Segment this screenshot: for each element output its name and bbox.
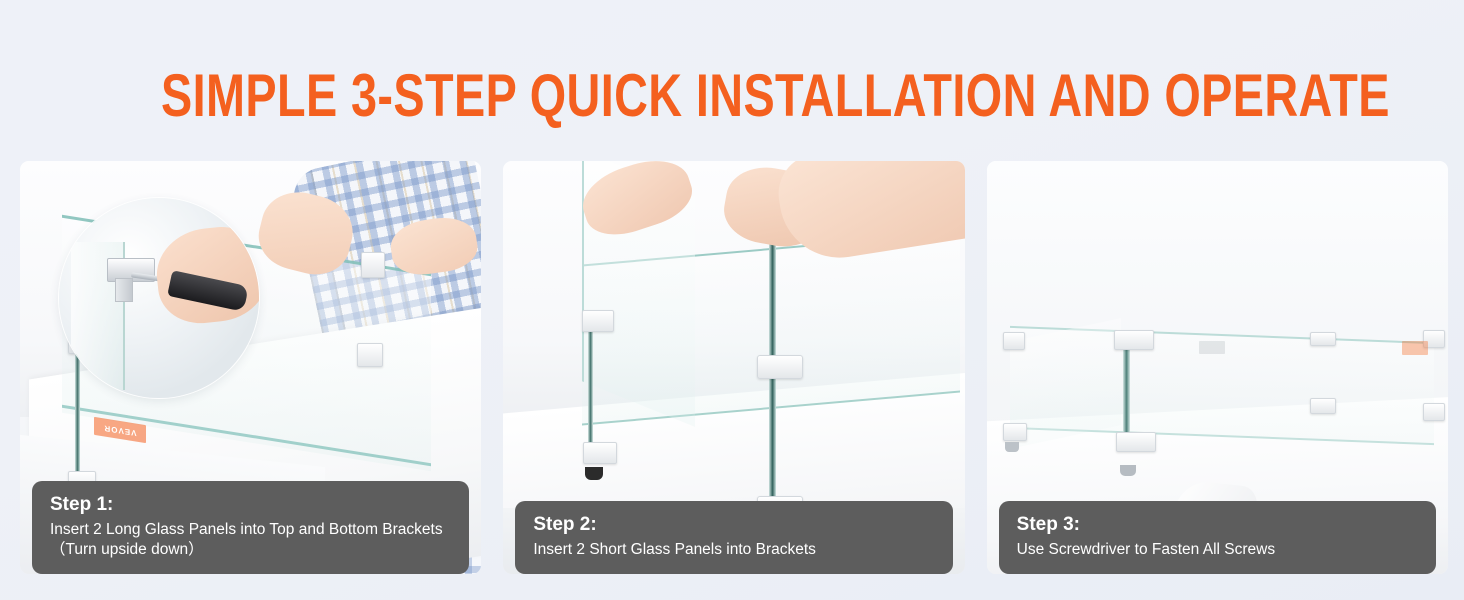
bracket-corner-top bbox=[1114, 330, 1154, 350]
step-card-2[interactable]: Step 2: Insert 2 Short Glass Panels into… bbox=[503, 161, 964, 574]
bracket-top-right bbox=[361, 252, 385, 278]
step-3-label: Step 3: bbox=[1017, 513, 1418, 537]
step-card-3[interactable]: Step 3: Use Screwdriver to Fasten All Sc… bbox=[987, 161, 1448, 574]
step-2-caption: Step 2: Insert 2 Short Glass Panels into… bbox=[515, 501, 952, 574]
magnifier-inset bbox=[59, 198, 259, 398]
bracket-upper-center bbox=[757, 355, 803, 379]
step-3-description: Use Screwdriver to Fasten All Screws bbox=[1017, 540, 1418, 560]
steps-gallery: VEVOR Step 1: Insert 2 Long Glass Panels… bbox=[20, 161, 1448, 574]
bracket-mid-right-top bbox=[1310, 332, 1336, 346]
step-card-1[interactable]: VEVOR Step 1: Insert 2 Long Glass Panels… bbox=[20, 161, 481, 574]
promo-banner: SIMPLE 3-STEP QUICK INSTALLATION AND OPE… bbox=[0, 0, 1464, 600]
bracket-mid-right bbox=[357, 343, 383, 367]
bracket-mid-right-bottom bbox=[1310, 398, 1336, 414]
rubber-foot-corner bbox=[1120, 465, 1136, 476]
glass-corner-post-left bbox=[588, 318, 593, 458]
center-label-sticker bbox=[1199, 341, 1225, 354]
bracket-far-left-top bbox=[1003, 332, 1025, 350]
page-title: SIMPLE 3-STEP QUICK INSTALLATION AND OPE… bbox=[161, 64, 1303, 128]
step-1-description: Insert 2 Long Glass Panels into Top and … bbox=[50, 520, 451, 560]
bracket-upper-left bbox=[582, 310, 614, 332]
bracket-lower-left bbox=[583, 442, 617, 464]
inset-bracket-clamp bbox=[115, 278, 133, 302]
bracket-far-left-bottom bbox=[1003, 423, 1027, 441]
inset-hand-icon bbox=[153, 223, 260, 328]
step-1-label: Step 1: bbox=[50, 493, 451, 517]
bracket-far-right-bottom bbox=[1423, 403, 1445, 421]
bracket-corner-bottom bbox=[1116, 432, 1156, 452]
step-2-description: Insert 2 Short Glass Panels into Bracket… bbox=[533, 540, 934, 560]
step-2-label: Step 2: bbox=[533, 513, 934, 537]
rubber-foot-left bbox=[1005, 442, 1019, 452]
step-3-caption: Step 3: Use Screwdriver to Fasten All Sc… bbox=[999, 501, 1436, 574]
vevor-sticker bbox=[1402, 341, 1428, 355]
rubber-foot-left bbox=[585, 467, 603, 480]
step-1-caption: Step 1: Insert 2 Long Glass Panels into … bbox=[32, 481, 469, 574]
